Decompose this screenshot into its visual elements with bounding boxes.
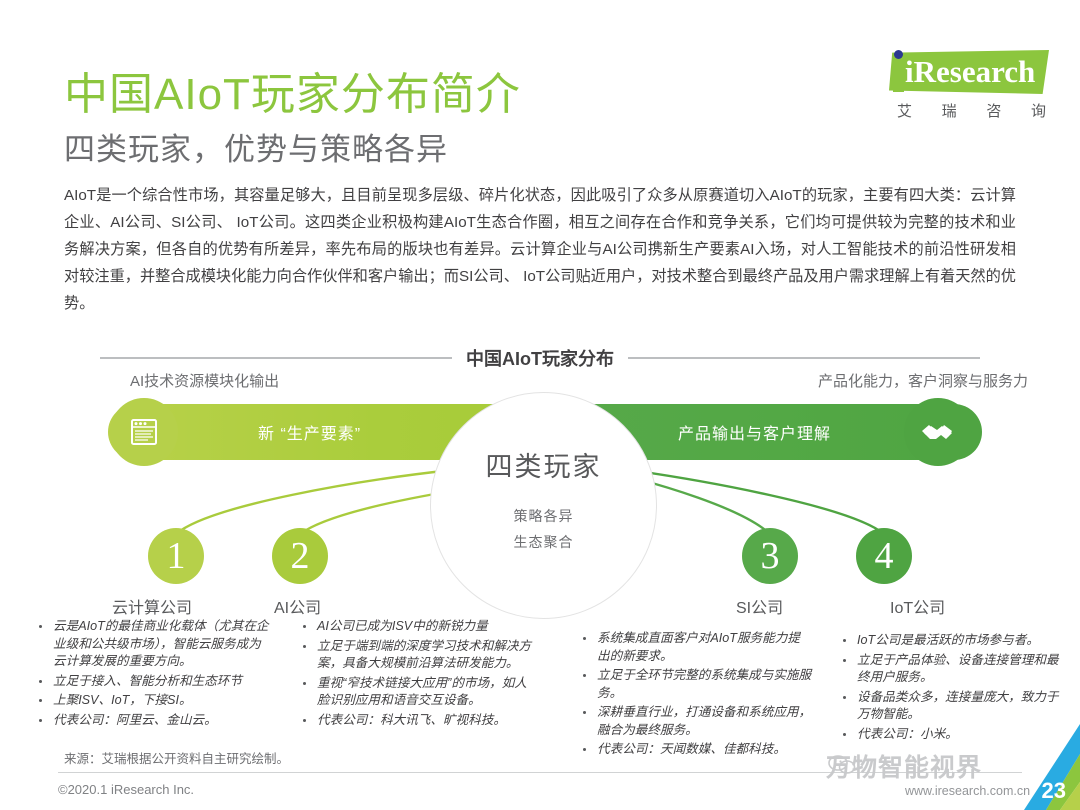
logo-sub-char-2: 瑞 bbox=[942, 100, 958, 121]
player-label-3: SI公司 bbox=[736, 594, 783, 618]
list-item: 云是AIoT的最佳商业化载体（尤其在企业级和公共级市场），智能云服务成为云计算发… bbox=[36, 618, 272, 671]
bullet-column-si: 系统集成直面客户对AIoT服务能力提出的新要求。 立足于全环节完整的系统集成与实… bbox=[580, 630, 812, 761]
center-line-1: 策略各异 bbox=[514, 506, 574, 526]
list-item: IoT公司是最活跃的市场参与者。 bbox=[840, 632, 1066, 650]
bar-left-label: 新 “生产要素” bbox=[258, 420, 361, 444]
body-paragraph: AIoT是一个综合性市场，其容量足够大，且目前呈现多层级、碎片化状态，因此吸引了… bbox=[64, 182, 1016, 317]
bullet-column-cloud: 云是AIoT的最佳商业化载体（尤其在企业级和公共级市场），智能云服务成为云计算发… bbox=[36, 618, 272, 731]
list-item: 上聚ISV、IoT，下接SI。 bbox=[36, 692, 272, 710]
player-label-2: AI公司 bbox=[274, 594, 321, 618]
list-item: 立足于产品体验、设备连接管理和最终用户服务。 bbox=[840, 652, 1066, 687]
slide: iResearch 艾 瑞 咨 询 中国AIoT玩家分布简介 四类玩家，优势与策… bbox=[0, 0, 1080, 810]
bullet-columns: 云是AIoT的最佳商业化载体（尤其在企业级和公共级市场），智能云服务成为云计算发… bbox=[0, 618, 1080, 758]
list-item: 立足于端到端的深度学习技术和解决方案，具备大规模前沿算法研发能力。 bbox=[300, 638, 536, 673]
player-label-1: 云计算公司 bbox=[112, 594, 192, 618]
list-item: 立足于接入、智能分析和生态环节 bbox=[36, 673, 272, 691]
diagram-title-row: 中国AIoT玩家分布 bbox=[100, 346, 980, 370]
center-circle: 四类玩家 策略各异 生态聚合 bbox=[430, 392, 657, 619]
diagram-rule-left bbox=[100, 357, 452, 359]
logo-brand-text: iResearch bbox=[905, 54, 1035, 90]
logo-mark: iResearch bbox=[875, 44, 1050, 96]
logo-sub-char-3: 咨 bbox=[986, 100, 1002, 121]
logo-subtitle: 艾 瑞 咨 询 bbox=[897, 100, 1047, 121]
center-title: 四类玩家 bbox=[486, 445, 602, 484]
logo-i-stem bbox=[893, 62, 904, 92]
page-subtitle: 四类玩家，优势与策略各异 bbox=[64, 124, 448, 169]
handshake-icon bbox=[904, 398, 972, 466]
player-number-4: 4 bbox=[856, 528, 912, 584]
player-number-1: 1 bbox=[148, 528, 204, 584]
diagram-title: 中国AIoT玩家分布 bbox=[452, 345, 628, 371]
diagram-rule-right bbox=[628, 357, 980, 359]
list-item: 重视“窄技术链接大应用”的市场，如人脸识别应用和语音交互设备。 bbox=[300, 675, 536, 710]
player-number-3: 3 bbox=[742, 528, 798, 584]
logo-sub-char-1: 艾 bbox=[897, 100, 913, 121]
list-item: 系统集成直面客户对AIoT服务能力提出的新要求。 bbox=[580, 630, 812, 665]
page-number: 23 bbox=[1042, 778, 1066, 804]
list-item: 代表公司：阿里云、金山云。 bbox=[36, 712, 272, 730]
source-note: 来源：艾瑞根据公开资料自主研究绘制。 bbox=[64, 748, 289, 767]
list-item: 设备品类众多，连接量庞大，致力于万物智能。 bbox=[840, 689, 1066, 724]
logo-i-dot-icon bbox=[894, 50, 903, 59]
list-item: AI公司已成为ISV中的新锐力量 bbox=[300, 618, 536, 636]
diagram-caption-left: AI技术资源模块化输出 bbox=[130, 370, 279, 391]
bar-right-label: 产品输出与客户理解 bbox=[678, 420, 831, 444]
diagram-caption-right: 产品化能力，客户洞察与服务力 bbox=[818, 370, 1028, 391]
list-item: 代表公司：科大讯飞、旷视科技。 bbox=[300, 712, 536, 730]
list-item: 代表公司：天闻数媒、佳都科技。 bbox=[580, 741, 812, 759]
list-item: 立足于全环节完整的系统集成与实施服务。 bbox=[580, 667, 812, 702]
iresearch-logo: iResearch 艾 瑞 咨 询 bbox=[875, 44, 1050, 132]
player-label-4: IoT公司 bbox=[890, 594, 945, 618]
copyright-text: ©2020.1 iResearch Inc. bbox=[58, 782, 194, 797]
corner-ribbon bbox=[994, 724, 1080, 810]
code-window-icon bbox=[110, 398, 178, 466]
watermark-text: 万物智能视界 bbox=[826, 748, 982, 784]
player-number-2: 2 bbox=[272, 528, 328, 584]
bullet-column-ai: AI公司已成为ISV中的新锐力量 立足于端到端的深度学习技术和解决方案，具备大规… bbox=[300, 618, 536, 731]
page-title: 中国AIoT玩家分布简介 bbox=[64, 58, 521, 122]
list-item: 深耕垂直行业，打通设备和系统应用，融合为最终服务。 bbox=[580, 704, 812, 739]
logo-sub-char-4: 询 bbox=[1031, 100, 1047, 121]
center-line-2: 生态聚合 bbox=[514, 532, 574, 552]
